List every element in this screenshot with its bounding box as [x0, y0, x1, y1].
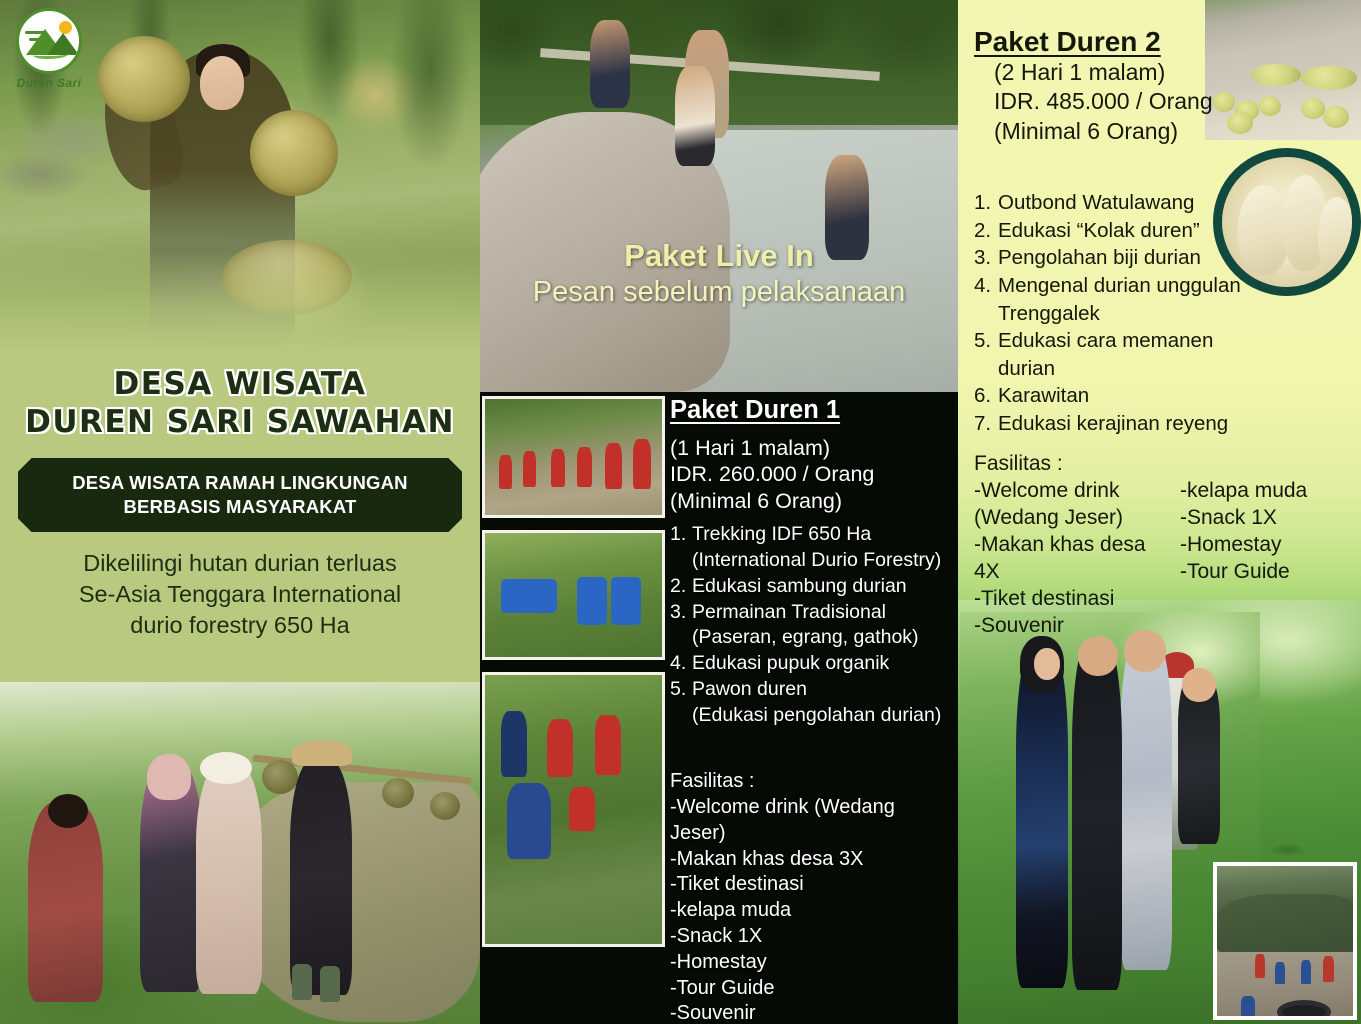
activity-number: 2. [670, 574, 692, 599]
activity-number: 3. [974, 245, 998, 272]
facility-item: -Makan khas desa 4X [974, 531, 1170, 585]
kneeling-figure [507, 783, 551, 859]
activity-item: 3.Permainan Tradisional [670, 600, 956, 625]
left-subtitle-line2: Se-Asia Tenggara International [18, 579, 462, 610]
activity-sub: (Edukasi pengolahan durian) [692, 704, 941, 726]
durian-on-pole [262, 760, 298, 794]
activity-item: 1.Trekking IDF 650 Ha [670, 522, 956, 547]
activity-sub: (International Durio Forestry) [692, 549, 941, 571]
participant [577, 447, 592, 487]
participant [523, 451, 536, 487]
page-title: DESA WISATA DUREN SARI SAWAHAN [18, 366, 462, 442]
activity-item: 2.Edukasi “Kolak duren” [974, 218, 1264, 245]
left-subtitle: Dikelilingi hutan durian terluas Se-Asia… [18, 548, 462, 641]
activity-subtext: (Paseran, egrang, gathok) [670, 625, 956, 650]
participant [551, 449, 565, 487]
facility-item: -Welcome drink (Wedang Jeser) [670, 795, 956, 847]
paket-duren-2-title: Paket Duren 2 [974, 26, 1223, 58]
facilities-columns: -Welcome drink (Wedang Jeser) -Makan kha… [974, 477, 1354, 639]
grafting-education-photo [482, 672, 665, 947]
photographer-figure [28, 802, 103, 1002]
visitor-head [1182, 668, 1216, 702]
visitor-hat [200, 752, 252, 784]
visitor-face [1034, 648, 1060, 680]
visitor-figure [1016, 648, 1068, 988]
durian-fruit [1259, 96, 1281, 116]
page-title-line1: DESA WISATA [18, 366, 462, 404]
activity-item: 6.Karawitan [974, 383, 1264, 410]
activity-text: Karawitan [998, 384, 1089, 407]
instructor-figure [501, 711, 527, 777]
left-panel-content: DESA WISATA DUREN SARI SAWAHAN DESA WISA… [0, 352, 480, 682]
paket-duren-2-minimum: (Minimal 6 Orang) [974, 117, 1223, 146]
mountain-sun-logo-icon [16, 8, 82, 74]
activity-item: 2.Edukasi sambung durian [670, 574, 956, 599]
visitor-head [147, 754, 191, 800]
activity-number: 4. [974, 273, 998, 300]
visitor-figure [1120, 640, 1172, 970]
activity-number: 5. [974, 328, 998, 355]
activity-text: Edukasi cara memanen [998, 329, 1213, 352]
participant [595, 715, 621, 775]
paket-duren-2-facilities: Fasilitas : -Welcome drink (Wedang Jeser… [974, 452, 1354, 639]
durian-heap [1251, 64, 1301, 86]
visitor-figure [196, 764, 262, 994]
bottom-photo-farmer-visitors [0, 682, 480, 1024]
durian-heap [1301, 66, 1357, 90]
activity-number: 7. [974, 411, 998, 438]
facility-item: -Tiket destinasi [670, 872, 956, 898]
activity-number: 3. [670, 600, 692, 625]
durian-harvest-pile-photo [1205, 0, 1361, 140]
brochure-page: Duren Sari DESA WISATA DUREN SARI SAWAHA… [0, 0, 1361, 1024]
visitor-figure [1072, 642, 1122, 990]
facility-item: (Wedang Jeser) [974, 504, 1170, 531]
facility-item: -Tour Guide [670, 976, 956, 1002]
activity-item: 1.Outbond Watulawang [974, 190, 1264, 217]
participant [547, 719, 573, 777]
compost-barrel [611, 577, 641, 625]
facility-item: -Makan khas desa 3X [670, 847, 956, 873]
tagline-line2: BERBASIS MASYARAKAT [28, 495, 452, 519]
activity-number: 1. [974, 190, 998, 217]
facilities-title: Fasilitas : [974, 452, 1354, 476]
farmer-boot [292, 964, 312, 1000]
activity-subtext: Trenggalek [974, 301, 1264, 328]
facilities-column-1: -Welcome drink (Wedang Jeser) -Makan kha… [974, 477, 1170, 639]
live-in-heading-block: Paket Live In Pesan sebelum pelaksanaan [480, 238, 958, 309]
activity-item: 4.Mengenal durian unggulan [974, 273, 1264, 300]
activity-number: 4. [670, 651, 692, 676]
compost-barrels-photo [482, 530, 665, 660]
facility-item: -Homestay [1180, 531, 1307, 558]
rafting-participant [1301, 960, 1311, 984]
paket-duren-1-block: Paket Duren 1 (1 Hari 1 malam) IDR. 260.… [670, 396, 956, 728]
river-play-photo [480, 0, 958, 392]
river-tubing-photo [1213, 862, 1357, 1020]
farmer-boot [320, 966, 340, 1002]
activity-subtext: (Edukasi pengolahan durian) [670, 703, 956, 728]
facility-item: -Souvenir [670, 1001, 956, 1024]
activity-text: Pengolahan biji durian [998, 246, 1201, 269]
paket-duren-1-duration: (1 Hari 1 malam) [670, 435, 956, 461]
facilities-title: Fasilitas : [670, 770, 956, 793]
crouching-participant [569, 787, 595, 831]
activity-item: 5.Pawon duren [670, 677, 956, 702]
activity-number: 6. [974, 383, 998, 410]
facility-item: -Souvenir [974, 612, 1170, 639]
inner-tube [1277, 1000, 1331, 1020]
middle-photo-column [482, 396, 667, 959]
left-subtitle-line3: durio forestry 650 Ha [18, 610, 462, 641]
farmer-conical-hat [292, 740, 352, 766]
activity-text: Edukasi kerajinan reyeng [998, 412, 1228, 435]
live-in-subtitle: Pesan sebelum pelaksanaan [480, 276, 958, 309]
participant [499, 455, 512, 489]
paket-duren-2-price: IDR. 485.000 / Orang [974, 87, 1223, 116]
facility-item: -Snack 1X [670, 924, 956, 950]
live-in-title: Paket Live In [480, 238, 958, 274]
activity-text: Outbond Watulawang [998, 191, 1194, 214]
activity-text: Trekking IDF 650 Ha [692, 523, 871, 545]
participant [633, 439, 651, 489]
outbound-group-photo [482, 396, 665, 518]
farmer-figure [290, 760, 352, 995]
facility-item: -kelapa muda [1180, 477, 1307, 504]
left-panel: Duren Sari DESA WISATA DUREN SARI SAWAHA… [0, 0, 480, 1024]
photographer-head [48, 794, 88, 828]
tagline-line1: DESA WISATA RAMAH LINGKUNGAN [28, 471, 452, 495]
paket-duren-2-duration: (2 Hari 1 malam) [974, 58, 1223, 87]
paket-duren-1-price: IDR. 260.000 / Orang [670, 461, 956, 487]
activity-item: 3.Pengolahan biji durian [974, 245, 1264, 272]
activity-text: Edukasi “Kolak duren” [998, 219, 1200, 242]
activity-sub: durian [998, 357, 1055, 380]
middle-panel: Paket Live In Pesan sebelum pelaksanaan [480, 0, 958, 1024]
child-figure [675, 66, 715, 166]
tagline-banner: DESA WISATA RAMAH LINGKUNGAN BERBASIS MA… [18, 458, 462, 533]
durian-flesh-lobe [1318, 197, 1356, 275]
durian-on-pole [382, 778, 414, 808]
activity-text: Edukasi sambung durian [692, 575, 907, 597]
paket-duren-2-activity-list: 1.Outbond Watulawang 2.Edukasi “Kolak du… [974, 190, 1264, 439]
durian-on-pole [430, 792, 460, 820]
compost-drum [501, 579, 557, 613]
paket-duren-1-activity-list: 1.Trekking IDF 650 Ha (International Dur… [670, 522, 956, 727]
activity-number: 5. [670, 677, 692, 702]
activity-number: 1. [670, 522, 692, 547]
facility-item: -Welcome drink [974, 477, 1170, 504]
activity-sub: (Paseran, egrang, gathok) [692, 626, 919, 648]
rafting-participant [1323, 956, 1334, 982]
activity-item: 5.Edukasi cara memanen [974, 328, 1264, 355]
activity-number: 2. [974, 218, 998, 245]
paket-duren-2-header: Paket Duren 2 (2 Hari 1 malam) IDR. 485.… [958, 26, 1223, 146]
facility-item: -Tiket destinasi [974, 585, 1170, 612]
activity-sub: Trenggalek [998, 302, 1100, 325]
rafting-participant [1241, 996, 1255, 1018]
compost-barrel [577, 577, 607, 625]
durian-fruit [1227, 112, 1253, 134]
activity-text: Pawon duren [692, 678, 807, 700]
durian-fruit [1323, 106, 1349, 128]
facility-item: -Snack 1X [1180, 504, 1307, 531]
activity-item: 4.Edukasi pupuk organik [670, 651, 956, 676]
visitor-head [1078, 636, 1118, 676]
durian-fruit [1301, 98, 1325, 119]
participant [605, 443, 622, 489]
paket-duren-1-title: Paket Duren 1 [670, 396, 956, 425]
child-figure [590, 20, 630, 108]
activity-text: Edukasi pupuk organik [692, 652, 889, 674]
activity-text: Permainan Tradisional [692, 601, 886, 623]
facility-item: -Tour Guide [1180, 558, 1307, 585]
logo-wordmark: Duren Sari [8, 76, 90, 90]
facilities-column-2: -kelapa muda -Snack 1X -Homestay -Tour G… [1180, 477, 1307, 639]
rafting-participant [1255, 954, 1265, 978]
page-title-line2: DUREN SARI SAWAHAN [18, 404, 462, 442]
paket-duren-1-facilities: Fasilitas : -Welcome drink (Wedang Jeser… [670, 770, 956, 1024]
facility-item: -Homestay [670, 950, 956, 976]
rafting-participant [1275, 962, 1285, 984]
left-subtitle-line1: Dikelilingi hutan durian terluas [18, 548, 462, 579]
facility-item: -kelapa muda [670, 898, 956, 924]
river-icon [33, 50, 69, 59]
activity-text: Mengenal durian unggulan [998, 274, 1241, 297]
river-bank [1217, 894, 1357, 954]
paket-duren-1-minimum: (Minimal 6 Orang) [670, 488, 956, 514]
activity-subtext: durian [974, 356, 1264, 383]
duren-sari-logo: Duren Sari [8, 8, 90, 96]
activity-subtext: (International Durio Forestry) [670, 548, 956, 573]
activity-item: 7.Edukasi kerajinan reyeng [974, 411, 1264, 438]
